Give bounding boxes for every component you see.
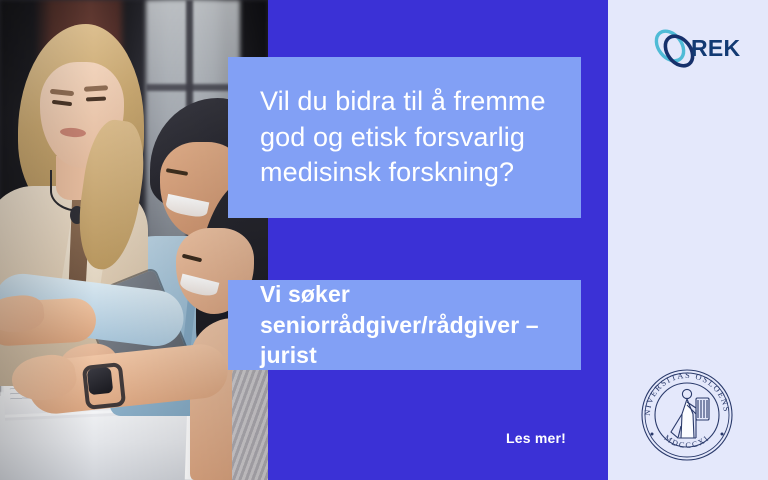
rek-logo[interactable]: REK [651,27,737,69]
recruitment-banner: Vil du bidra til å fremme god og etisk f… [0,0,768,480]
headline-box: Vil du bidra til å fremme god og etisk f… [228,57,581,218]
job-title-box: Vi søker seniorrådgiver/rådgiver – juris… [228,280,581,370]
seal-apollo-figure [671,389,709,438]
headline-text: Vil du bidra til å fremme god og etisk f… [228,84,581,191]
photo-smartwatch [87,367,114,395]
photo-window-sill [146,84,240,91]
read-more-link[interactable]: Les mer! [506,430,566,446]
rek-wordmark: REK [691,35,740,62]
uio-seal: UNIVERSITAS OSLOENSIS MDCCCXI [634,362,740,468]
job-title-text: Vi søker seniorrådgiver/rådgiver – juris… [228,279,581,371]
